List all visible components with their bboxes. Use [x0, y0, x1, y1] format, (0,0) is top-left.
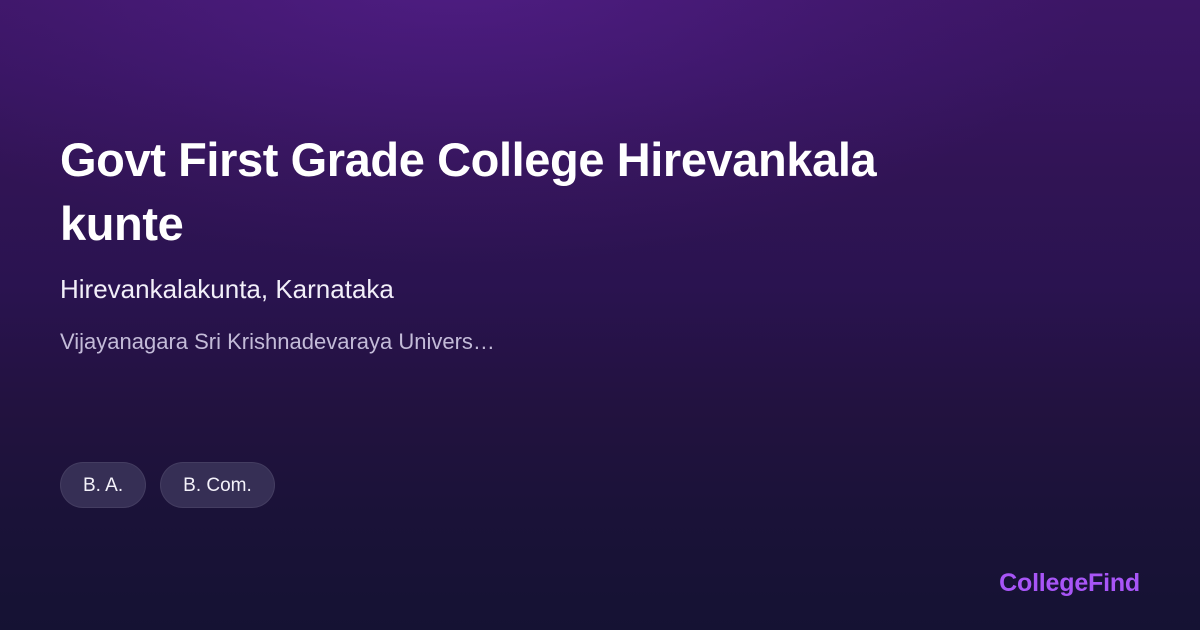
- college-affiliation: Vijayanagara Sri Krishnadevaraya Univers…: [60, 327, 495, 357]
- college-location: Hirevankalakunta, Karnataka: [60, 272, 394, 306]
- og-share-card: Govt First Grade College Hirevankala kun…: [0, 0, 1200, 630]
- brand-wordmark: CollegeFind: [999, 568, 1140, 598]
- course-tag-list: B. A. B. Com.: [60, 462, 275, 508]
- course-tag-bcom: B. Com.: [160, 462, 275, 508]
- college-title: Govt First Grade College Hirevankala kun…: [60, 128, 1020, 256]
- course-tag-ba: B. A.: [60, 462, 146, 508]
- card-content: Govt First Grade College Hirevankala kun…: [60, 0, 1140, 630]
